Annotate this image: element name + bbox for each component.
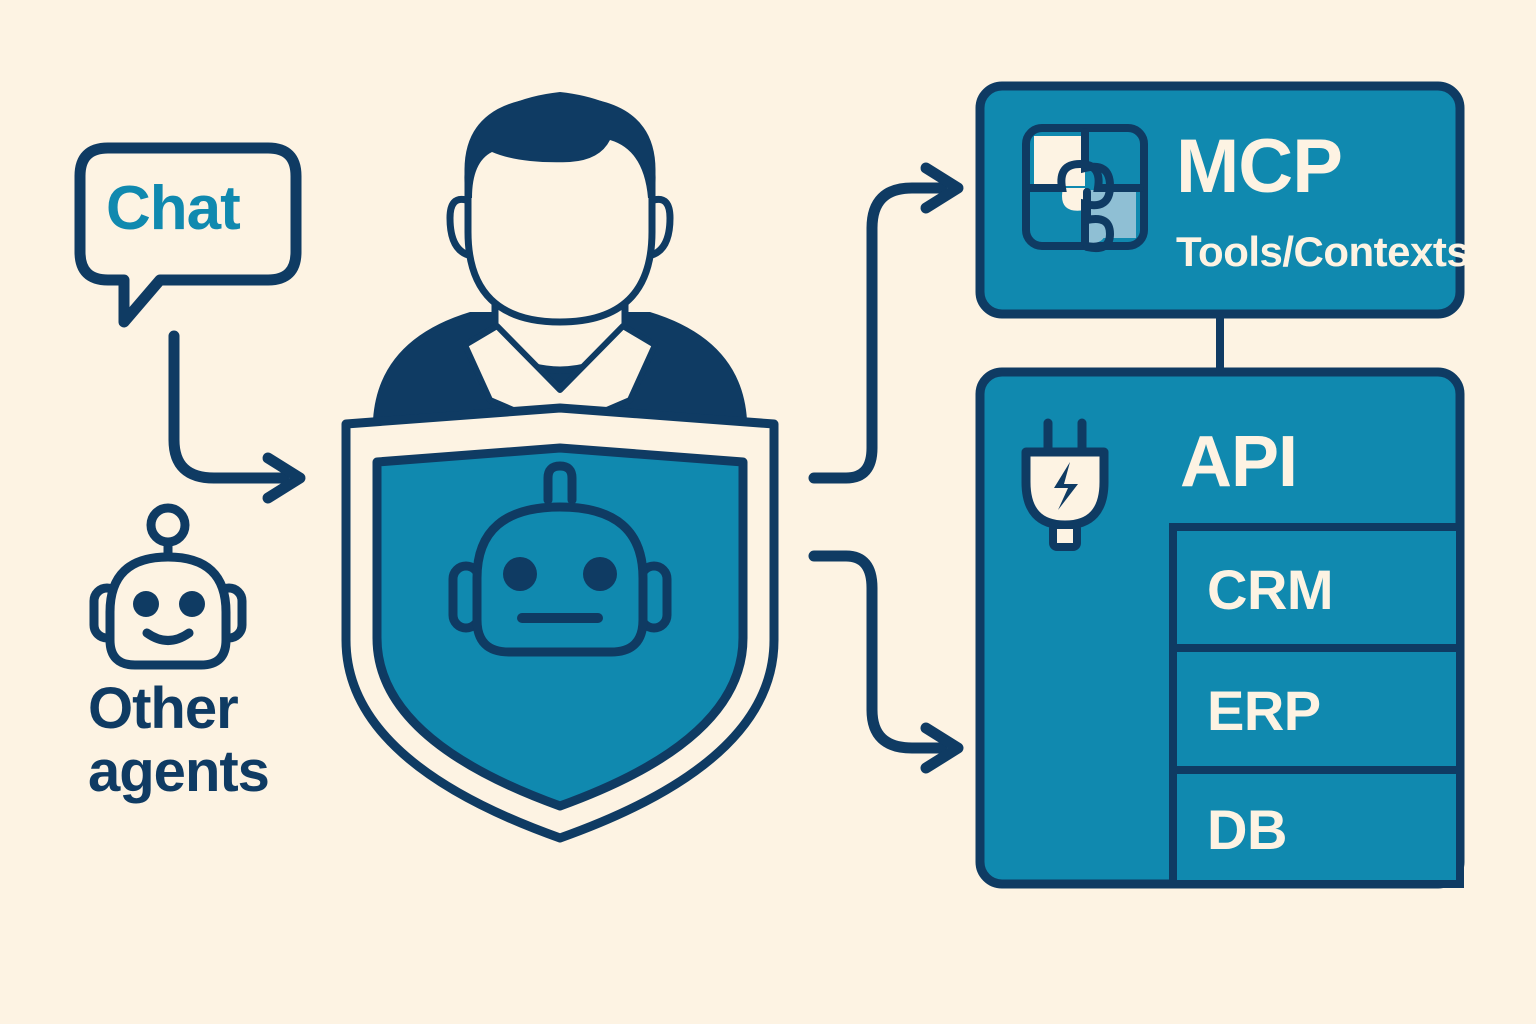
other-agents-line2: agents — [88, 739, 269, 804]
puzzle-piece-icon — [1026, 128, 1144, 248]
chat-bubble-label: Chat — [106, 176, 240, 241]
other-agents-line1: Other — [88, 676, 238, 741]
robot-head-icon[interactable] — [94, 508, 242, 665]
shield-icon[interactable] — [346, 408, 774, 838]
mcp-title: MCP — [1176, 127, 1342, 207]
system-label-erp: ERP — [1207, 678, 1321, 743]
arrow-down-right-icon — [174, 336, 300, 498]
api-title: API — [1180, 425, 1297, 501]
curved-arrow-up-right-icon — [814, 168, 958, 478]
diagram-canvas: Chat Otheragents MCP Tools/Contexts API … — [0, 0, 1536, 1024]
other-agents-label: Otheragents — [88, 678, 269, 803]
curved-arrow-down-right-icon — [814, 556, 958, 768]
system-label-db: DB — [1207, 797, 1287, 862]
system-label-crm: CRM — [1207, 557, 1333, 622]
mcp-subtitle: Tools/Contexts — [1176, 230, 1469, 274]
